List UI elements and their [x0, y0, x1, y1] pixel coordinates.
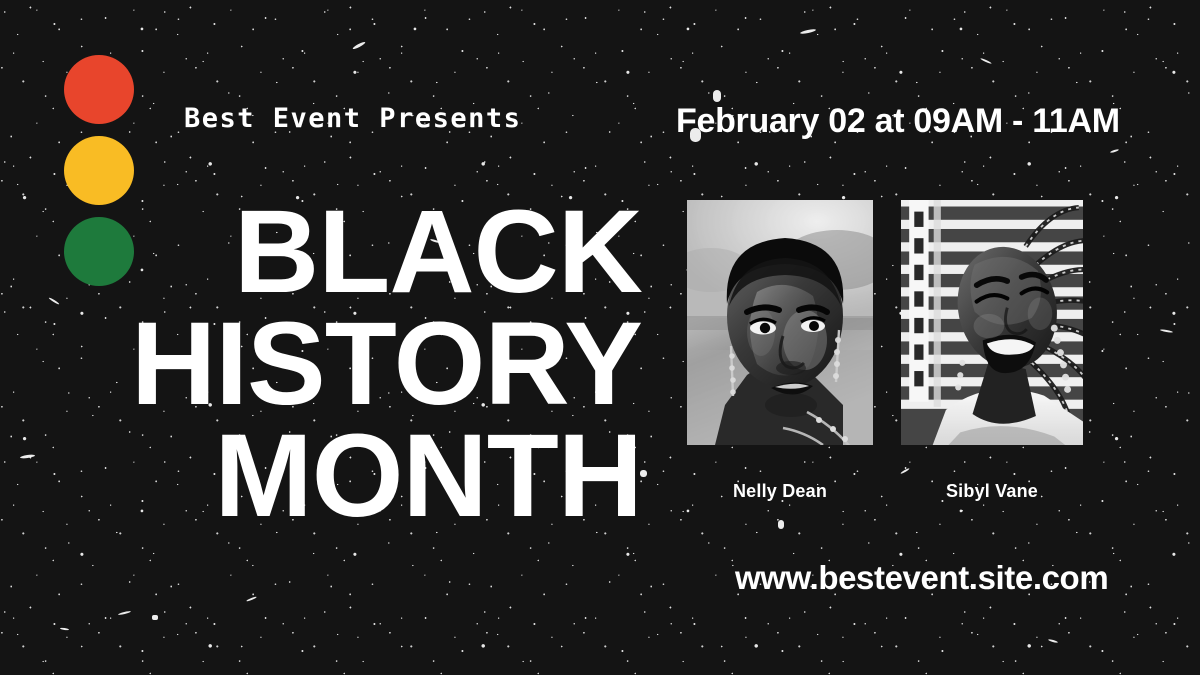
speaker-card-1: Nelly Dean [687, 200, 873, 502]
title-line-1: BLACK [120, 196, 642, 308]
title-line-2: HISTORY [120, 308, 642, 420]
presenter-label: Best Event Presents [184, 103, 521, 134]
title-line-3: MONTH [120, 420, 642, 532]
portrait-nelly-dean [687, 200, 873, 445]
poster-canvas: Best Event Presents BLACK HISTORY MONTH … [0, 0, 1200, 675]
event-datetime: February 02 at 09AM - 11AM [676, 102, 1120, 141]
speaker-list: Nelly Dean [687, 200, 1083, 502]
speaker-card-2: Sibyl Vane [901, 200, 1083, 502]
red-dot [64, 55, 134, 124]
yellow-dot [64, 136, 134, 205]
portrait-sibyl-vane [901, 200, 1083, 445]
speaker-name: Nelly Dean [687, 481, 873, 502]
speaker-name: Sibyl Vane [901, 481, 1083, 502]
page-title: BLACK HISTORY MONTH [120, 196, 642, 532]
website-url: www.bestevent.site.com [735, 559, 1108, 597]
